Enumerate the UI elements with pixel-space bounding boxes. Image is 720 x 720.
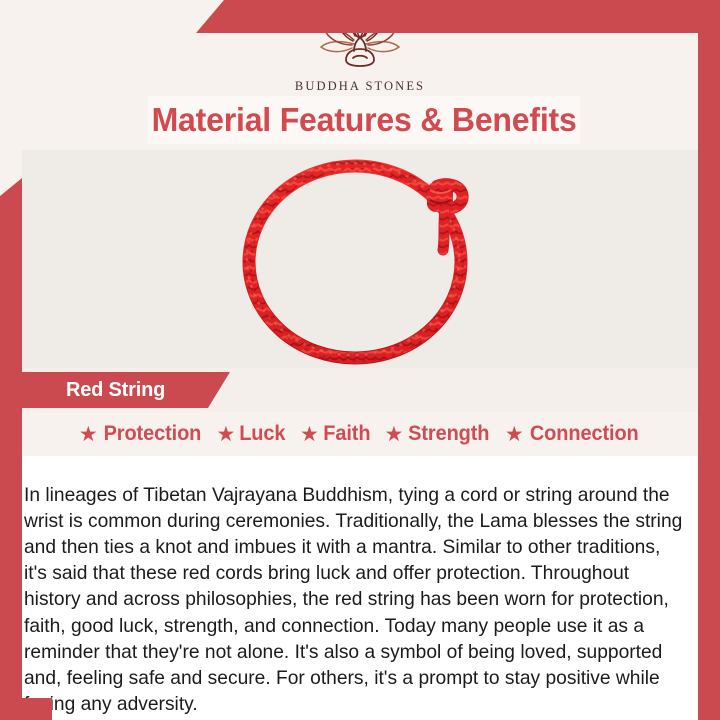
star-icon: ★ (505, 424, 524, 445)
benefit-faith: ★ Faith (300, 422, 372, 446)
bracelet-illustration (231, 152, 489, 366)
benefit-label: Strength (408, 422, 489, 446)
title-banner: Material Features & Benefits (148, 96, 580, 144)
description-text: In lineages of Tibetan Vajrayana Buddhis… (24, 482, 688, 718)
benefit-label: Connection (530, 422, 639, 446)
frame-left-accent-bar (0, 178, 22, 720)
benefit-label: Protection (103, 422, 201, 446)
benefit-connection: ★ Connection (505, 422, 641, 446)
star-icon: ★ (300, 424, 319, 445)
brand-wordmark: BUDDHA STONES (0, 79, 720, 94)
infographic-card: BUDDHA STONES Material Features & Benefi… (0, 0, 720, 720)
benefit-label: Faith (323, 422, 370, 446)
frame-top-accent-bar (196, 0, 720, 33)
product-label-text: Red String (18, 379, 165, 402)
product-label-banner: Red String (18, 372, 230, 408)
benefit-label: Luck (240, 422, 286, 446)
frame-right-accent-bar (698, 0, 720, 720)
description-zone: In lineages of Tibetan Vajrayana Buddhis… (0, 456, 720, 720)
star-icon: ★ (79, 424, 98, 445)
frame-bottom-accent-bar (0, 698, 52, 720)
benefits-row: ★ Protection ★ Luck ★ Faith ★ Strength ★… (0, 412, 720, 456)
star-icon: ★ (217, 424, 236, 445)
benefit-luck: ★ Luck (217, 422, 287, 446)
product-image-zone (22, 150, 698, 368)
benefit-protection: ★ Protection (79, 422, 204, 446)
benefit-strength: ★ Strength (384, 422, 491, 446)
page-title: Material Features & Benefits (151, 101, 576, 139)
red-braided-string-bracelet-icon (22, 150, 698, 368)
star-icon: ★ (384, 424, 403, 445)
